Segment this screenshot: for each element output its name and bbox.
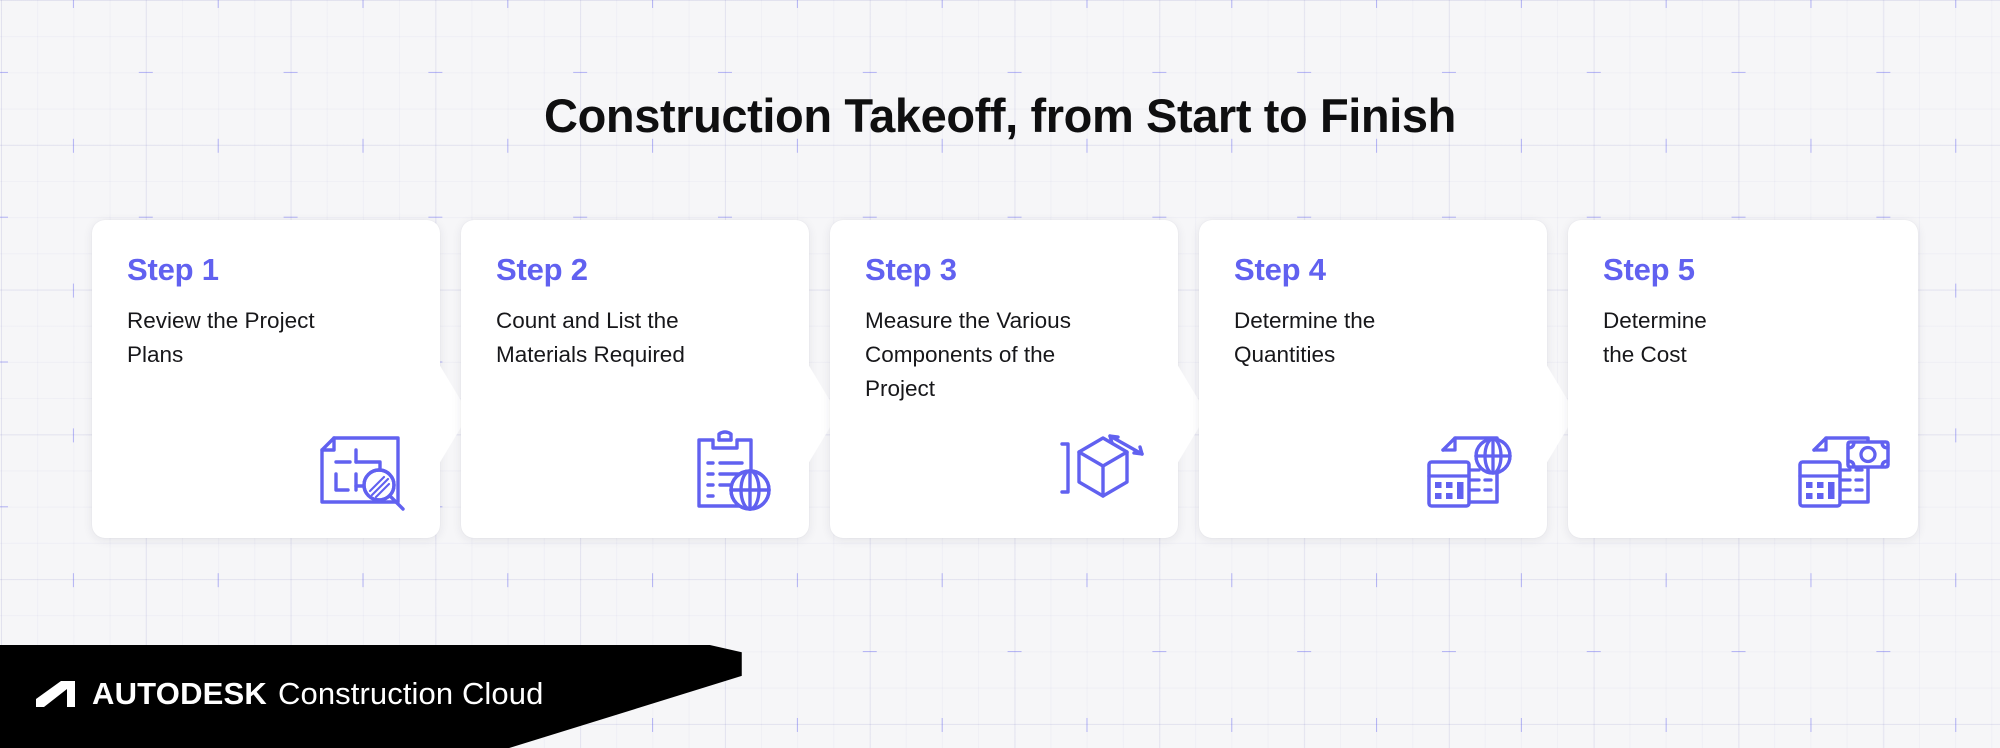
step-label: Step 5 <box>1603 252 1695 288</box>
step-description: Determine the Quantities <box>1234 304 1524 372</box>
brand-company-name: AUTODESK <box>92 678 267 709</box>
step-card-4: Step 4 Determine the Quantities <box>1199 220 1547 538</box>
step-description: Count and List the Materials Required <box>496 304 786 372</box>
infographic-canvas: Construction Takeoff, from Start to Fini… <box>0 0 2000 748</box>
calculator-document-banknote-icon <box>1788 428 1892 516</box>
step-card-2: Step 2 Count and List the Materials Requ… <box>461 220 809 538</box>
calculator-document-globe-icon <box>1417 428 1521 516</box>
step-description: Review the Project Plans <box>127 304 417 372</box>
brand-product-name: Construction Cloud <box>278 678 543 709</box>
step-label: Step 3 <box>865 252 957 288</box>
step-card-5: Step 5 Determine the Cost <box>1568 220 1918 538</box>
page-title: Construction Takeoff, from Start to Fini… <box>0 88 2000 143</box>
measured-cube-icon <box>1048 428 1152 516</box>
step-label: Step 4 <box>1234 252 1326 288</box>
brand-lockup: AUTODESK Construction Cloud <box>34 678 543 709</box>
blueprint-magnifier-icon <box>310 428 414 516</box>
step-card-3: Step 3 Measure the Various Components of… <box>830 220 1178 538</box>
step-card-1: Step 1 Review the Project Plans <box>92 220 440 538</box>
brand-banner: AUTODESK Construction Cloud <box>0 645 760 748</box>
autodesk-logo-mark <box>34 679 78 709</box>
steps-row: Step 1 Review the Project Plans <box>92 220 1908 538</box>
clipboard-checklist-globe-icon <box>679 428 783 516</box>
step-label: Step 2 <box>496 252 588 288</box>
step-label: Step 1 <box>127 252 219 288</box>
step-description: Determine the Cost <box>1603 304 1893 372</box>
step-description: Measure the Various Components of the Pr… <box>865 304 1155 406</box>
